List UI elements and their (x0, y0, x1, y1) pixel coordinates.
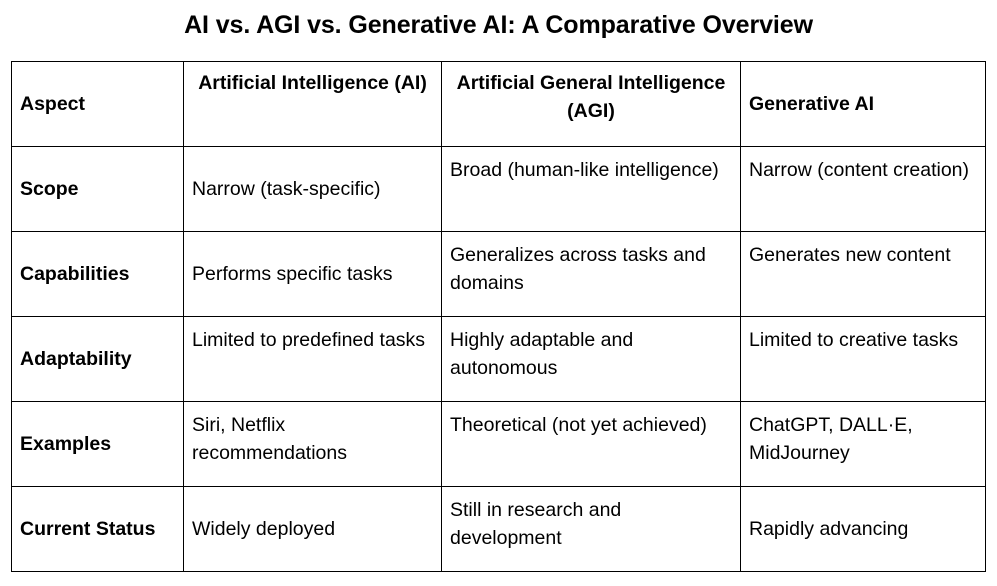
comparison-table: Aspect Artificial Intelligence (AI) Arti… (11, 61, 986, 572)
table-row: Adaptability Limited to predefined tasks… (12, 317, 986, 402)
row-ai-value: Widely deployed (184, 487, 441, 571)
row-generative-ai-value: Generates new content (741, 232, 985, 316)
column-header-agi-label: Artificial General Intelligence (AGI) (442, 62, 740, 146)
row-generative-ai-cell: Generates new content (741, 232, 986, 317)
row-agi-value: Broad (human-like intelligence) (442, 147, 740, 231)
row-aspect-label: Capabilities (12, 232, 183, 316)
column-header-generative-ai-label: Generative AI (741, 62, 985, 146)
row-aspect-cell: Capabilities (12, 232, 184, 317)
row-ai-value: Narrow (task-specific) (184, 147, 441, 231)
table-header: Aspect Artificial Intelligence (AI) Arti… (12, 62, 986, 147)
row-ai-cell: Limited to predefined tasks (184, 317, 442, 402)
row-generative-ai-cell: Rapidly advancing (741, 487, 986, 572)
page-title: AI vs. AGI vs. Generative AI: A Comparat… (0, 10, 997, 40)
column-header-aspect: Aspect (12, 62, 184, 147)
column-header-generative-ai: Generative AI (741, 62, 986, 147)
row-ai-cell: Narrow (task-specific) (184, 147, 442, 232)
row-ai-cell: Performs specific tasks (184, 232, 442, 317)
row-agi-cell: Generalizes across tasks and domains (442, 232, 741, 317)
row-aspect-label: Examples (12, 402, 183, 486)
table-row: Examples Siri, Netflix recommendations T… (12, 402, 986, 487)
row-agi-value: Still in research and development (442, 487, 740, 571)
row-generative-ai-cell: Limited to creative tasks (741, 317, 986, 402)
row-ai-cell: Widely deployed (184, 487, 442, 572)
row-agi-cell: Still in research and development (442, 487, 741, 572)
row-ai-value: Limited to predefined tasks (184, 317, 441, 401)
row-agi-cell: Theoretical (not yet achieved) (442, 402, 741, 487)
row-generative-ai-value: ChatGPT, DALL·E, MidJourney (741, 402, 985, 486)
row-aspect-cell: Current Status (12, 487, 184, 572)
row-agi-value: Theoretical (not yet achieved) (442, 402, 740, 486)
row-generative-ai-value: Narrow (content creation) (741, 147, 985, 231)
row-aspect-label: Scope (12, 147, 183, 231)
row-aspect-label: Current Status (12, 487, 183, 571)
column-header-aspect-label: Aspect (12, 62, 183, 146)
document-page: AI vs. AGI vs. Generative AI: A Comparat… (0, 0, 997, 586)
comparison-table-container: Aspect Artificial Intelligence (AI) Arti… (11, 61, 985, 572)
table-header-row: Aspect Artificial Intelligence (AI) Arti… (12, 62, 986, 147)
row-generative-ai-cell: ChatGPT, DALL·E, MidJourney (741, 402, 986, 487)
row-ai-cell: Siri, Netflix recommendations (184, 402, 442, 487)
row-ai-value: Performs specific tasks (184, 232, 441, 316)
row-aspect-label: Adaptability (12, 317, 183, 401)
row-agi-value: Generalizes across tasks and domains (442, 232, 740, 316)
row-generative-ai-value: Rapidly advancing (741, 487, 985, 571)
column-header-ai-label: Artificial Intelligence (AI) (184, 62, 441, 146)
table-row: Capabilities Performs specific tasks Gen… (12, 232, 986, 317)
table-body: Scope Narrow (task-specific) Broad (huma… (12, 147, 986, 572)
table-row: Current Status Widely deployed Still in … (12, 487, 986, 572)
row-agi-cell: Broad (human-like intelligence) (442, 147, 741, 232)
row-aspect-cell: Adaptability (12, 317, 184, 402)
row-agi-value: Highly adaptable and autonomous (442, 317, 740, 401)
table-row: Scope Narrow (task-specific) Broad (huma… (12, 147, 986, 232)
row-agi-cell: Highly adaptable and autonomous (442, 317, 741, 402)
row-aspect-cell: Scope (12, 147, 184, 232)
row-generative-ai-value: Limited to creative tasks (741, 317, 985, 401)
row-aspect-cell: Examples (12, 402, 184, 487)
column-header-agi: Artificial General Intelligence (AGI) (442, 62, 741, 147)
row-generative-ai-cell: Narrow (content creation) (741, 147, 986, 232)
row-ai-value: Siri, Netflix recommendations (184, 402, 441, 486)
column-header-ai: Artificial Intelligence (AI) (184, 62, 442, 147)
